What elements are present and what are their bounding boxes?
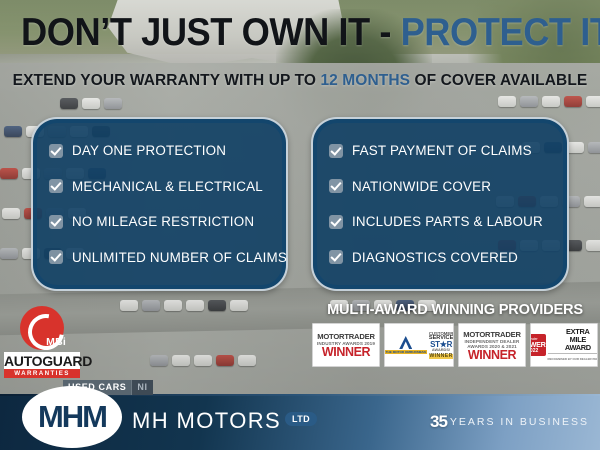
chevron-logo-icon bbox=[399, 336, 412, 349]
award-title: MOTORTRADER bbox=[463, 330, 521, 339]
feature-label: MECHANICAL & ELECTRICAL bbox=[72, 179, 263, 194]
brand-suffix-badge: LTD bbox=[285, 412, 317, 426]
mbi-autoguard-logo: MBi AUTOGUARD WARRANTIES bbox=[4, 306, 80, 378]
feature-item: UNLIMITED NUMBER OF CLAIMS bbox=[49, 250, 272, 265]
awards-heading: MULTI-AWARD WINNING PROVIDERS bbox=[312, 302, 598, 318]
feature-label: NO MILEAGE RESTRICTION bbox=[72, 214, 254, 229]
feature-label: UNLIMITED NUMBER OF CLAIMS bbox=[72, 250, 287, 265]
subheadline-before: EXTEND YOUR WARRANTY WITH UP TO bbox=[13, 72, 321, 89]
award-badge-motortrader-independent-dealer: MOTORTRADER INDEPENDENT DEALER AWARDS 20… bbox=[458, 323, 526, 367]
check-icon bbox=[49, 215, 63, 229]
award-badge-customer-service-star: THE MOTOR OMBUDSMAN CUSTOMER SERVICE ST★… bbox=[384, 323, 454, 367]
award-badge-dealer-power-extra-mile: Dealer POWER 2022 EXTRA MILE AWARD RECOG… bbox=[530, 323, 598, 367]
dealer-power-seal: Dealer POWER 2022 bbox=[530, 334, 546, 356]
page-title: DON’T JUST OWN IT - PROTECT IT bbox=[21, 14, 579, 52]
awards-badge-row: MOTORTRADER INDUSTRY AWARDS 2019 WINNER … bbox=[312, 323, 598, 367]
autoguard-ring-icon: MBi bbox=[20, 306, 64, 350]
check-icon bbox=[329, 144, 343, 158]
feature-item: DIAGNOSTICS COVERED bbox=[329, 250, 553, 265]
feature-label: DIAGNOSTICS COVERED bbox=[352, 250, 518, 265]
extra-mile-caption: RECOGNISED BY OUR DEALER PARTNERS bbox=[548, 353, 598, 363]
motor-ombudsman-logo: THE MOTOR OMBUDSMAN bbox=[385, 336, 427, 354]
features-panel-left: DAY ONE PROTECTION MECHANICAL & ELECTRIC… bbox=[31, 117, 288, 291]
subheadline: EXTEND YOUR WARRANTY WITH UP TO 12 MONTH… bbox=[0, 72, 600, 90]
logo-monogram: MHM bbox=[38, 399, 106, 435]
region-label: NI bbox=[131, 380, 152, 395]
headline-accent: PROTECT IT bbox=[401, 11, 600, 54]
check-icon bbox=[49, 250, 63, 264]
mbi-mark: MBi bbox=[46, 336, 66, 348]
footer-bar: USED CARS NI MHM MH MOTORS LTD 35 YEARS … bbox=[0, 394, 600, 450]
award-text-block: CUSTOMER SERVICE ST★R AWARDS! WINNER bbox=[429, 331, 454, 360]
autoguard-name: AUTOGUARD bbox=[4, 352, 80, 369]
headline-primary: DON’T JUST OWN IT - bbox=[21, 11, 401, 54]
check-icon bbox=[329, 250, 343, 264]
award-result: WINNER bbox=[322, 346, 370, 358]
years-label: YEARS IN BUSINESS bbox=[450, 416, 589, 428]
check-icon bbox=[329, 215, 343, 229]
extra-mile-line3: AWARD bbox=[565, 344, 591, 352]
feature-item: NO MILEAGE RESTRICTION bbox=[49, 214, 272, 229]
award-badge-motortrader-industry-2019: MOTORTRADER INDUSTRY AWARDS 2019 WINNER bbox=[312, 323, 380, 367]
feature-item: INCLUDES PARTS & LABOUR bbox=[329, 214, 553, 229]
brand-name: MH MOTORS bbox=[132, 408, 281, 434]
feature-item: NATIONWIDE COVER bbox=[329, 179, 553, 194]
award-title: MOTORTRADER bbox=[317, 332, 375, 341]
feature-label: FAST PAYMENT OF CLAIMS bbox=[352, 143, 532, 158]
years-in-business: 35 YEARS IN BUSINESS bbox=[430, 412, 589, 432]
feature-label: DAY ONE PROTECTION bbox=[72, 143, 226, 158]
subheadline-highlight: 12 MONTHS bbox=[320, 72, 410, 89]
feature-item: DAY ONE PROTECTION bbox=[49, 143, 272, 158]
ombudsman-label: THE MOTOR OMBUDSMAN bbox=[385, 350, 427, 354]
years-number: 35 bbox=[430, 412, 447, 432]
feature-item: FAST PAYMENT OF CLAIMS bbox=[329, 143, 553, 158]
autoguard-subtitle: WARRANTIES bbox=[4, 369, 80, 378]
check-icon bbox=[49, 179, 63, 193]
feature-label: INCLUDES PARTS & LABOUR bbox=[352, 214, 543, 229]
subheadline-after: OF COVER AVAILABLE bbox=[410, 72, 587, 89]
mhm-logo: MHM bbox=[22, 386, 122, 448]
extra-mile-award: EXTRA MILE AWARD RECOGNISED BY OUR DEALE… bbox=[548, 328, 598, 363]
features-panel-right: FAST PAYMENT OF CLAIMS NATIONWIDE COVER … bbox=[311, 117, 569, 291]
advert-banner: DON’T JUST OWN IT - PROTECT IT EXTEND YO… bbox=[0, 0, 600, 450]
check-icon bbox=[329, 179, 343, 193]
feature-item: MECHANICAL & ELECTRICAL bbox=[49, 179, 272, 194]
feature-label: NATIONWIDE COVER bbox=[352, 179, 491, 194]
award-result: WINNER bbox=[468, 349, 516, 361]
power-year: 2022 bbox=[530, 348, 538, 354]
check-icon bbox=[49, 144, 63, 158]
award-ribbon: WINNER bbox=[429, 354, 454, 360]
